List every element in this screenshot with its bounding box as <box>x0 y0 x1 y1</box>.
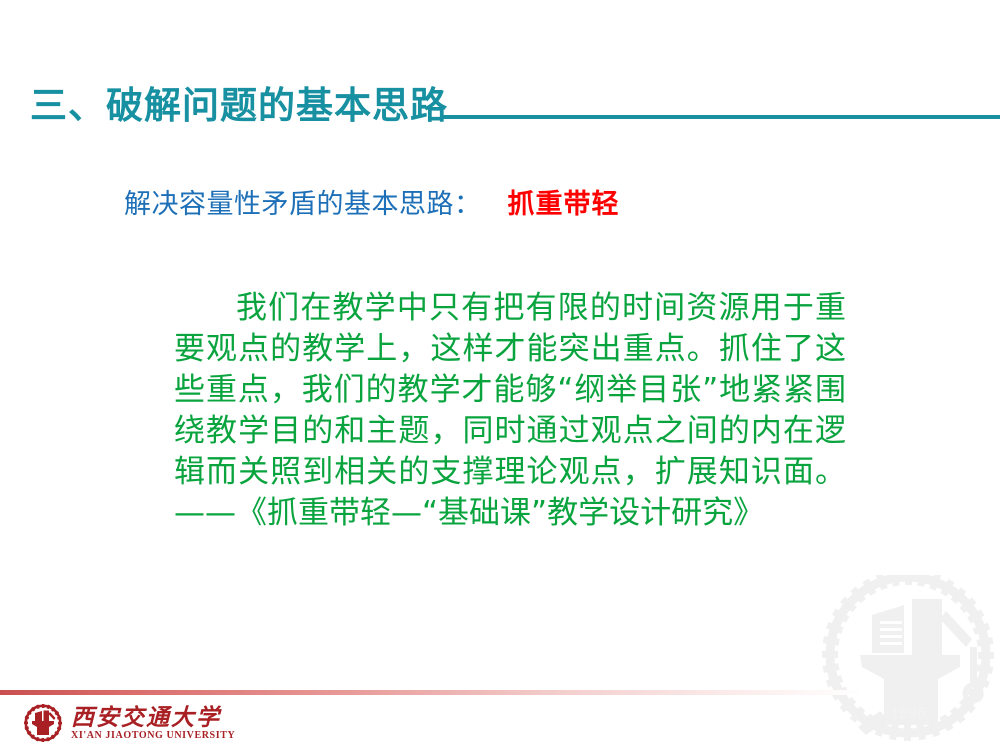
body-quote-block: 我们在教学中只有把有限的时间资源用于重要观点的教学上，这样才能突出重点。抓住了这… <box>174 288 846 534</box>
university-name-cn: 西安交通大学 <box>71 705 235 730</box>
footer-gradient-rule <box>0 690 862 695</box>
title-underline-rule <box>442 115 1000 119</box>
slide-canvas: 1896 三、破解问题的基本思路 解决容量性矛盾的基本思路： 抓重带轻 我们在教… <box>0 0 1000 750</box>
university-name-en: XI'AN JIAOTONG UNIVERSITY <box>71 730 235 742</box>
body-quote-paragraph: 我们在教学中只有把有限的时间资源用于重要观点的教学上，这样才能突出重点。抓住了这… <box>174 288 846 534</box>
subtitle-label: 解决容量性矛盾的基本思路： <box>124 182 482 221</box>
subtitle-row: 解决容量性矛盾的基本思路： 抓重带轻 <box>124 182 620 221</box>
university-wordmark: 西安交通大学 XI'AN JIAOTONG UNIVERSITY <box>71 705 235 742</box>
page-title: 三、破解问题的基本思路 <box>30 87 448 126</box>
university-seal-icon <box>24 704 62 742</box>
slide-title-row: 三、破解问题的基本思路 <box>0 70 1000 126</box>
university-emblem-watermark: 1896 <box>820 575 1000 750</box>
watermark-year-text: 1896 <box>890 705 926 722</box>
university-logo: 西安交通大学 XI'AN JIAOTONG UNIVERSITY <box>24 702 235 744</box>
subtitle-accent-keyword: 抓重带轻 <box>508 182 620 221</box>
